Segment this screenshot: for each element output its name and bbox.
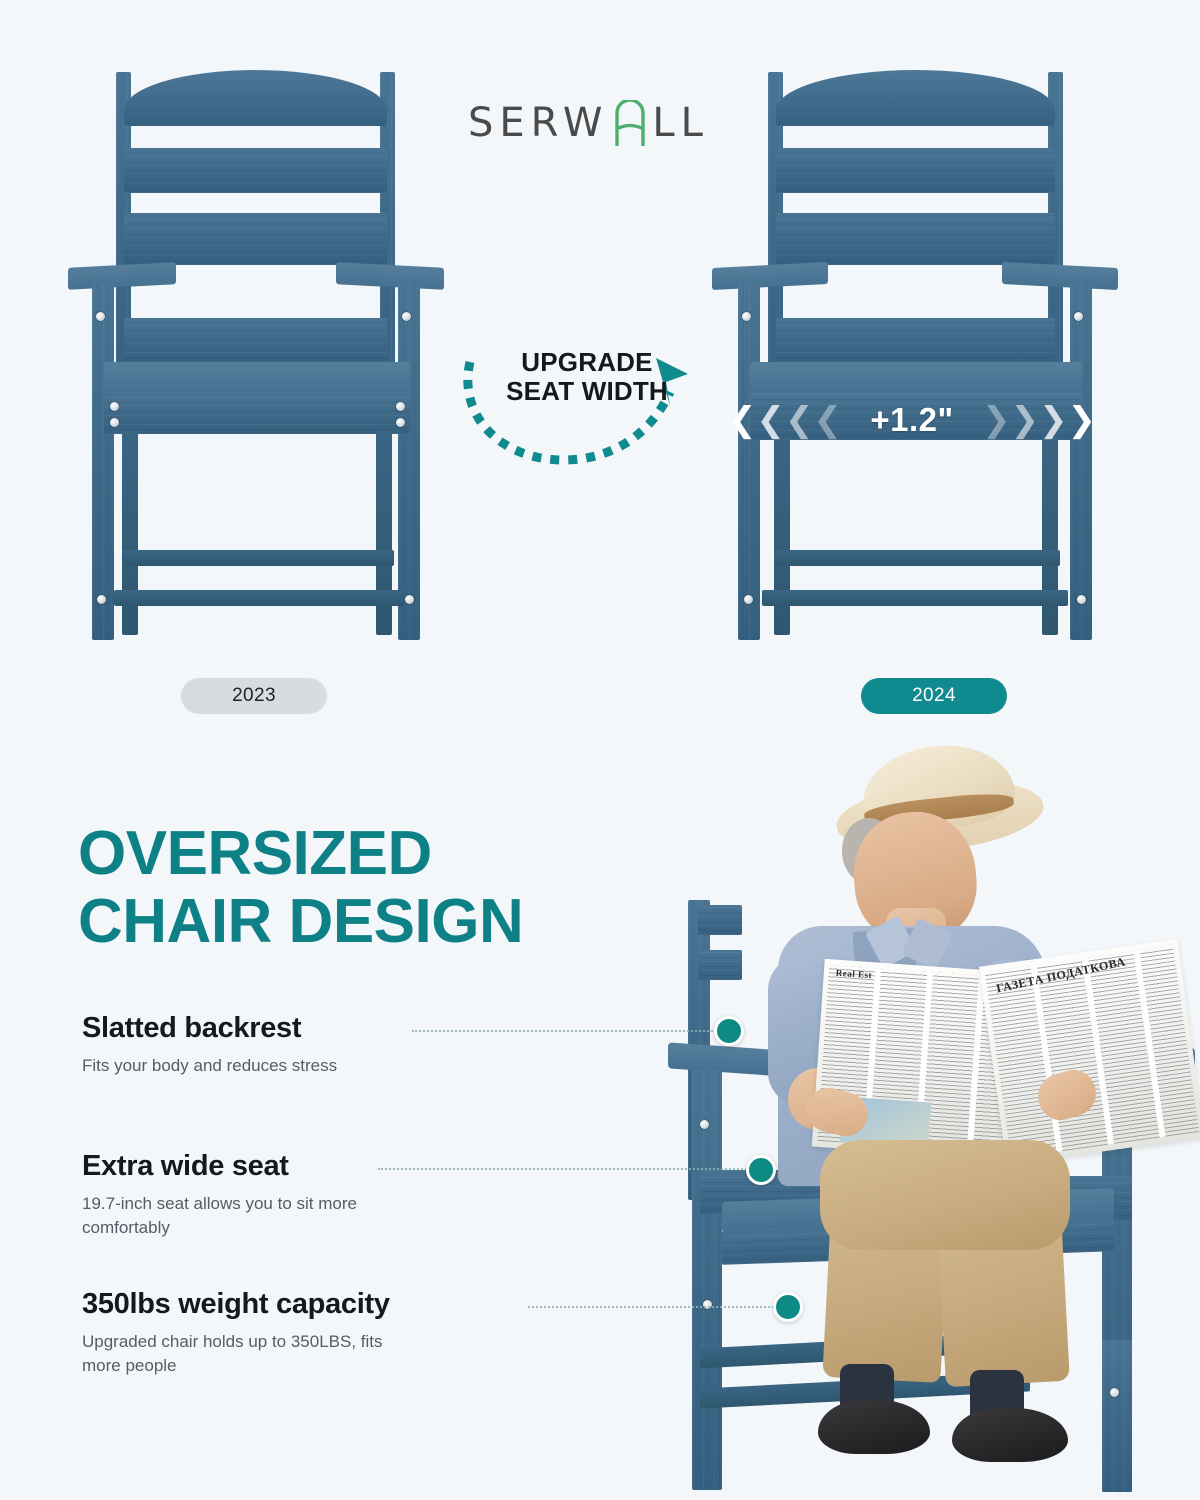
feature-title: Extra wide seat — [82, 1150, 552, 1183]
screw-cap — [110, 418, 119, 427]
shoe-right — [952, 1408, 1068, 1462]
infographic-page: SERW LL — [0, 0, 1200, 1500]
screw-cap — [742, 312, 751, 321]
feature-description: Fits your body and reduces stress — [82, 1054, 402, 1077]
feature-extra-wide-seat: Extra wide seat 19.7-inch seat allows yo… — [82, 1150, 552, 1239]
screw-cap — [1074, 312, 1083, 321]
upgrade-callout-text: UPGRADE SEAT WIDTH — [492, 348, 682, 407]
page-title: OVERSIZED CHAIR DESIGN — [78, 820, 638, 955]
brand-logo: SERW LL — [468, 100, 709, 146]
chair-a-icon — [613, 100, 647, 146]
screw-cap — [402, 312, 411, 321]
year-badge-2023: 2023 — [181, 678, 327, 714]
logo-text-before: SERW — [468, 100, 608, 146]
chair-front-leg-left — [692, 1070, 722, 1490]
feature-title: 350lbs weight capacity — [82, 1288, 552, 1321]
feature-title: Slatted backrest — [82, 1012, 552, 1045]
feature-slatted-backrest: Slatted backrest Fits your body and redu… — [82, 1012, 552, 1078]
chair-2024 — [700, 50, 1130, 660]
newspaper-right-page: ГАЗЕТА ПОДАТКОВА — [979, 939, 1200, 1165]
feature-description: 19.7-inch seat allows you to sit more co… — [82, 1192, 402, 1239]
lifestyle-photo: Real Est ГАЗЕТА ПОДАТКОВА — [640, 740, 1200, 1500]
screw-cap — [405, 595, 414, 604]
comparison-section: SERW LL — [0, 0, 1200, 740]
upgrade-line-2: SEAT WIDTH — [492, 377, 682, 406]
upgrade-line-1: UPGRADE — [492, 348, 682, 377]
feature-marker-capacity — [773, 1292, 803, 1322]
year-badge-2024: 2024 — [861, 678, 1007, 714]
screw-cap — [110, 402, 119, 411]
features-section: Real Est ГАЗЕТА ПОДАТКОВА — [0, 740, 1200, 1500]
shoe-left — [818, 1400, 930, 1454]
feature-marker-seat — [746, 1155, 776, 1185]
year-badge-2023-label: 2023 — [232, 685, 276, 707]
screw-cap — [396, 402, 405, 411]
screw-cap — [396, 418, 405, 427]
feature-marker-backrest — [714, 1016, 744, 1046]
upgrade-callout: UPGRADE SEAT WIDTH — [470, 344, 700, 464]
screw-cap — [744, 595, 753, 604]
headline-line-2: CHAIR DESIGN — [78, 888, 638, 956]
feature-weight-capacity: 350lbs weight capacity Upgraded chair ho… — [82, 1288, 552, 1377]
headline-line-1: OVERSIZED — [78, 820, 638, 888]
screw-cap — [97, 595, 106, 604]
leader-line-3 — [528, 1306, 790, 1308]
year-badge-2024-label: 2024 — [912, 685, 956, 707]
screw-cap — [1077, 595, 1086, 604]
screw-cap — [96, 312, 105, 321]
feature-description: Upgraded chair holds up to 350LBS, fits … — [82, 1330, 402, 1377]
chair-2023 — [60, 50, 450, 660]
